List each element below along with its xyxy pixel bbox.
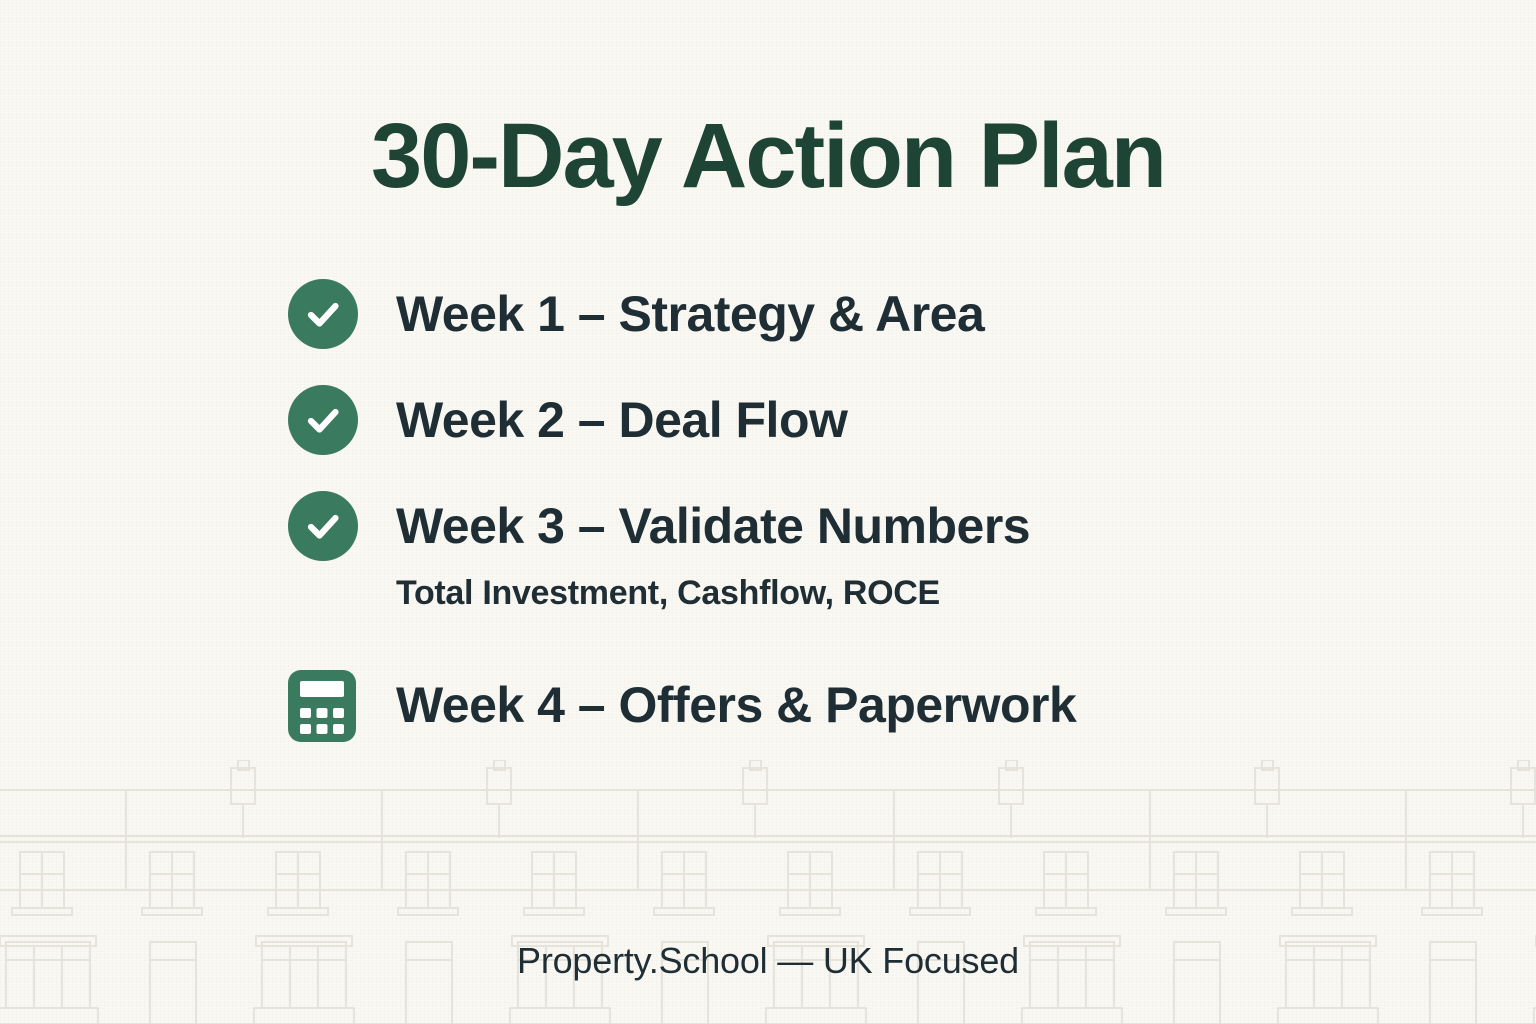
- list-item-subtext: Total Investment, Cashflow, ROCE: [396, 574, 1076, 613]
- list-item: Week 3 – Validate Numbers: [288, 490, 1076, 562]
- slide-canvas: 30-Day Action Plan Week 1 – Strategy & A…: [0, 0, 1536, 1024]
- page-title: 30-Day Action Plan: [0, 108, 1536, 205]
- list-item-label: Week 1 – Strategy & Area: [396, 289, 984, 339]
- list-item: Week 2 – Deal Flow: [288, 384, 1076, 456]
- footer-branding: Property.School — UK Focused: [0, 940, 1536, 982]
- list-item-label: Week 4 – Offers & Paperwork: [396, 680, 1076, 730]
- check-circle-icon: [288, 491, 358, 561]
- check-circle-icon: [288, 385, 358, 455]
- list-item: Week 1 – Strategy & Area: [288, 278, 1076, 350]
- check-circle-icon: [288, 279, 358, 349]
- calculator-icon: [288, 670, 358, 740]
- list-item: Week 4 – Offers & Paperwork: [288, 669, 1076, 741]
- action-plan-list: Week 1 – Strategy & Area Week 2 – Deal F…: [288, 278, 1076, 741]
- list-item-label: Week 3 – Validate Numbers: [396, 501, 1030, 551]
- list-item-label: Week 2 – Deal Flow: [396, 395, 847, 445]
